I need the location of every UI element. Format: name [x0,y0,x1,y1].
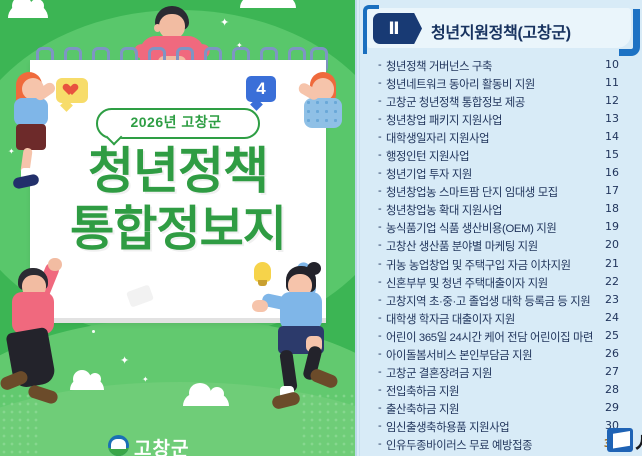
toc-row[interactable]: -아이돌봄서비스 본인부담금 지원26 [355,346,642,364]
toc-item-label: 어린이 365일 24시간 케어 전담 어린이집 마련 [386,329,593,345]
toc-dash: - [378,330,382,342]
toc-dash: - [378,276,382,288]
toc-item-page-number: 27 [587,365,619,378]
person-bottom-left-hand [48,258,62,271]
toc-item-label: 대학생일자리 지원사업 [386,130,489,146]
toc-item-label: 신혼부부 및 청년 주택대출이자 지원 [386,275,548,291]
toc-item-page-number: 18 [587,202,619,215]
toc-item-page-number: 13 [587,112,619,125]
toc-row[interactable]: -인유두종바이러스 무료 예방접종31 [355,436,642,454]
toc-item-label: 귀농 농업창업 및 주택구입 자금 이차지원 [386,257,571,273]
toc-dash: - [378,420,382,432]
heart-icon [66,84,79,97]
toc-item-label: 농식품기업 식품 생산비용(OEM) 지원 [386,220,556,236]
toc-item-label: 고창군 청년정책 통합정보 제공 [386,94,525,110]
toc-item-page-number: 15 [587,148,619,161]
toc-row[interactable]: -임신출생축하용품 지원사업30 [355,418,642,436]
toc-dash: - [378,95,382,107]
cloud-icon [240,0,296,8]
toc-item-page-number: 19 [587,220,619,233]
screenshot-root: ✦ ✦ ✦ ✦ ✦ ✦ [0,0,642,456]
toc-row[interactable]: -청년창업농 확대 지원사업18 [355,201,642,219]
section-title: 청년지원정책(고창군) [431,19,571,43]
toc-dash: - [378,239,382,251]
toc-dash: - [378,131,382,143]
toc-row[interactable]: -고창군 청년정책 통합정보 제공12 [355,93,642,111]
watermark-logo-icon [607,428,633,452]
sparkle-icon: ✦ [220,18,229,29]
speech-bubble-mark: 4 [246,78,276,100]
lightbulb-icon [254,262,271,282]
toc-dash: - [378,167,382,179]
watermark-text: 시사종합신문 [635,427,642,456]
toc-dash: - [378,149,382,161]
toc-row[interactable]: -청년기업 투자 지원16 [355,165,642,183]
toc-row[interactable]: -출산축하금 지원29 [355,400,642,418]
person-bottom-right-hand [252,300,268,312]
toc-row[interactable]: -청년정책 거버넌스 구축10 [355,57,642,75]
sparkle-icon: ✦ [8,148,15,156]
toc-item-label: 출산축하금 지원 [386,401,459,417]
toc-item-label: 청년정책 거버넌스 구축 [386,58,492,74]
sparkle-icon: ✦ [142,376,149,384]
toc-item-label: 행정인턴 지원사업 [386,148,469,164]
toc-row[interactable]: -귀농 농업창업 및 주택구입 자금 이차지원21 [355,256,642,274]
toc-row[interactable]: -청년창업농 스마트팜 단지 임대생 모집17 [355,183,642,201]
person-right-shirt-pattern [304,98,342,128]
toc-item-page-number: 17 [587,184,619,197]
toc-item-page-number: 28 [587,383,619,396]
toc-item-label: 아이돌봄서비스 본인부담금 지원 [386,347,532,363]
toc-dash: - [378,59,382,71]
toc-item-page-number: 16 [587,166,619,179]
toc-row[interactable]: -고창산 생산품 분야별 마케팅 지원20 [355,237,642,255]
toc-item-label: 청년창업농 확대 지원사업 [386,202,502,218]
person-bottom-left-shirt [12,292,54,334]
watermark: 시사종합신문 [607,425,642,455]
toc-item-page-number: 11 [587,76,619,89]
toc-dash: - [378,258,382,270]
toc-item-page-number: 21 [587,257,619,270]
toc-dash: - [378,384,382,396]
toc-item-page-number: 10 [587,58,619,71]
toc-row[interactable]: -어린이 365일 24시간 케어 전담 어린이집 마련25 [355,328,642,346]
gochang-logo-text: 고창군 [134,434,189,456]
lightbulb-base [258,280,267,286]
gochang-logo-mark [108,435,129,456]
toc-dash: - [378,203,382,215]
toc-list: -청년정책 거버넌스 구축10-청년네트워크 동아리 활동비 지원11-고창군 … [355,57,642,454]
dot-decoration [92,330,95,333]
section-number-label: Ⅱ [373,13,415,44]
sparkle-icon: ✦ [120,356,129,367]
toc-dash: - [378,185,382,197]
toc-item-page-number: 20 [587,238,619,251]
toc-row[interactable]: -신혼부부 및 청년 주택대출이자 지원22 [355,274,642,292]
toc-panel: Ⅱ 청년지원정책(고창군) -청년정책 거버넌스 구축10-청년네트워크 동아리… [355,0,642,456]
toc-row[interactable]: -고창군 결혼장려금 지원27 [355,364,642,382]
toc-item-label: 전입축하금 지원 [386,383,459,399]
poster-title-line-2: 통합정보지 [30,206,326,254]
poster-panel: ✦ ✦ ✦ ✦ ✦ ✦ [0,0,355,456]
toc-dash: - [378,77,382,89]
toc-dash: - [378,366,382,378]
toc-item-page-number: 23 [587,293,619,306]
toc-item-label: 고창지역 초·중·고 졸업생 대학 등록금 등 지원 [386,293,590,309]
toc-dash: - [378,402,382,414]
toc-item-page-number: 24 [587,311,619,324]
toc-row[interactable]: -대학생 학자금 대출이자 지원24 [355,310,642,328]
toc-item-page-number: 22 [587,275,619,288]
toc-item-label: 청년네트워크 동아리 활동비 지원 [386,76,535,92]
toc-row[interactable]: -농식품기업 식품 생산비용(OEM) 지원19 [355,219,642,237]
header-bracket-right-icon [619,9,640,56]
toc-item-label: 인유두종바이러스 무료 예방접종 [386,437,532,453]
gochang-logo: 고창군 [108,434,248,456]
toc-row[interactable]: -고창지역 초·중·고 졸업생 대학 등록금 등 지원23 [355,292,642,310]
poster-title-line-1: 청년정책 [30,146,326,196]
cloud-icon [8,4,48,18]
toc-item-page-number: 12 [587,94,619,107]
toc-item-label: 대학생 학자금 대출이자 지원 [386,311,515,327]
person-left-shirt [14,98,48,126]
toc-row[interactable]: -청년창업 패키지 지원사업13 [355,111,642,129]
person-bottom-right-shirt [280,292,322,330]
poster-badge-text: 2026년 고창군 [96,112,256,132]
dot-pattern-left [0,392,40,456]
toc-item-label: 고창군 결혼장려금 지원 [386,365,492,381]
toc-item-label: 임신출생축하용품 지원사업 [386,419,509,435]
toc-item-label: 청년창업농 스마트팜 단지 임대생 모집 [386,184,558,200]
toc-item-label: 고창산 생산품 분야별 마케팅 지원 [386,238,538,254]
toc-row[interactable]: -청년네트워크 동아리 활동비 지원11 [355,75,642,93]
toc-item-page-number: 26 [587,347,619,360]
toc-item-label: 청년기업 투자 지원 [386,166,472,182]
toc-row[interactable]: -전입축하금 지원28 [355,382,642,400]
section-header: Ⅱ 청년지원정책(고창군) [363,5,635,50]
dot-pattern-right [300,392,355,456]
toc-dash: - [378,438,382,450]
toc-item-label: 청년창업 패키지 지원사업 [386,112,502,128]
toc-dash: - [378,113,382,125]
cloud-icon [183,393,229,406]
toc-dash: - [378,294,382,306]
toc-dash: - [378,348,382,360]
toc-item-page-number: 29 [587,401,619,414]
toc-row[interactable]: -대학생일자리 지원사업14 [355,129,642,147]
toc-row[interactable]: -행정인턴 지원사업15 [355,147,642,165]
toc-item-page-number: 14 [587,130,619,143]
toc-dash: - [378,312,382,324]
toc-dash: - [378,221,382,233]
toc-item-page-number: 25 [587,329,619,342]
cloud-icon [70,378,104,390]
